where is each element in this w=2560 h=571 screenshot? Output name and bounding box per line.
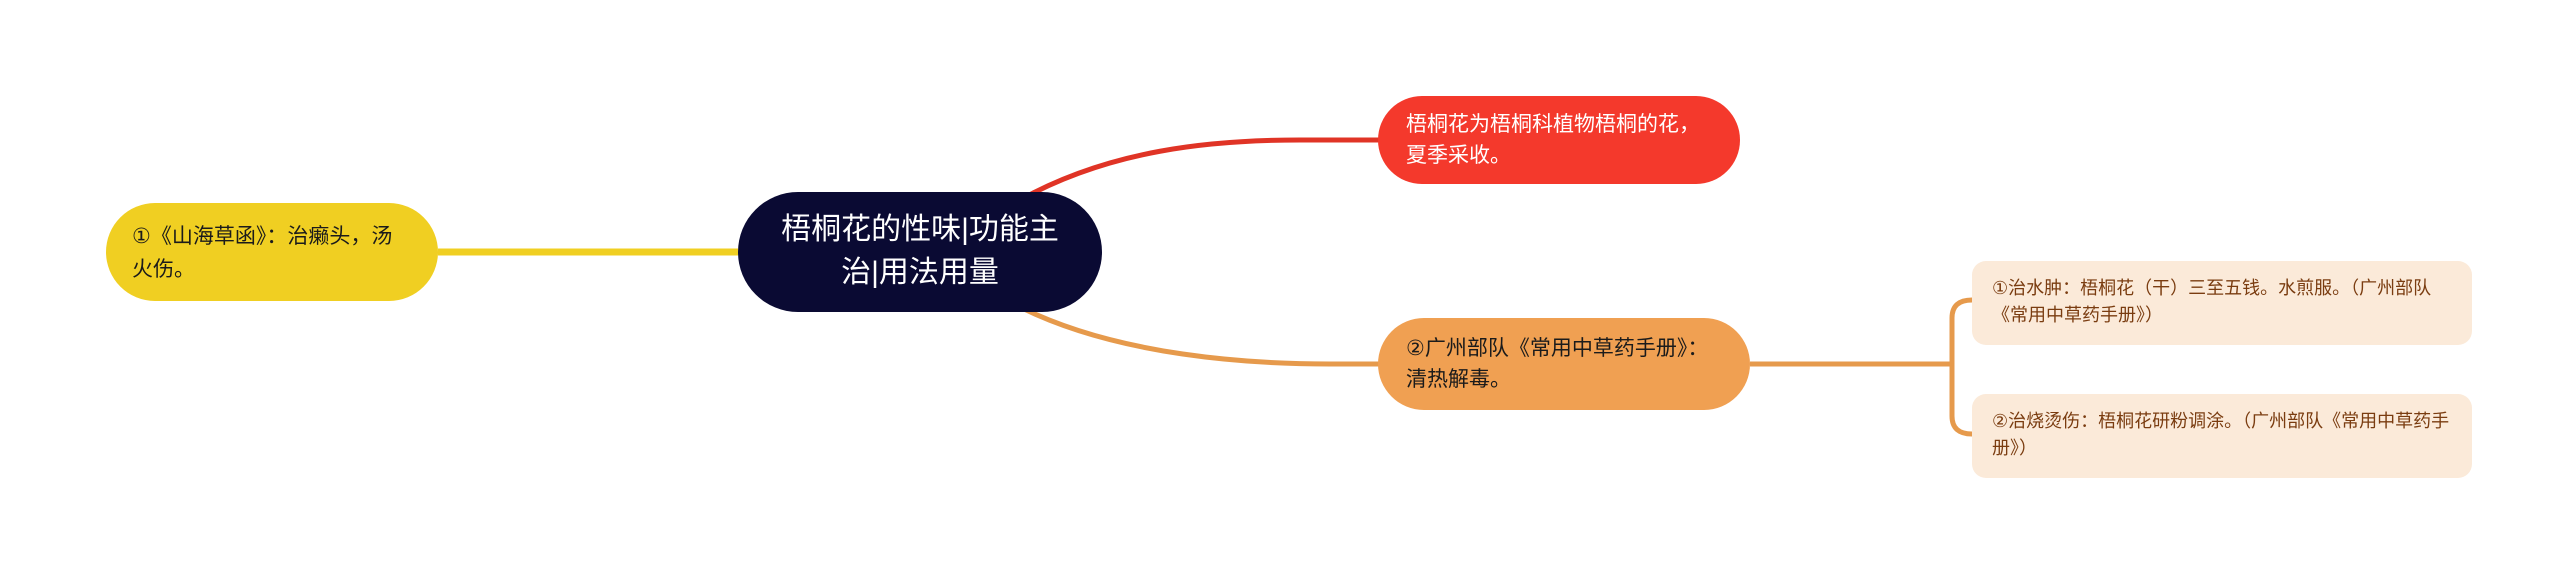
branch-node-orange-label: ②广州部队《常用中草药手册》：清热解毒。 [1406,333,1722,396]
branch-node-red[interactable]: 梧桐花为梧桐科植物梧桐的花，夏季采收。 [1378,96,1740,184]
branch-node-orange[interactable]: ②广州部队《常用中草药手册》：清热解毒。 [1378,318,1750,410]
root-node[interactable]: 梧桐花的性味|功能主治|用法用量 [738,192,1102,312]
branch-node-yellow-label: ①《山海草函》：治癞头，汤火伤。 [132,221,412,286]
connector-orange-to-leaf-2 [1952,364,1972,434]
branch-node-yellow[interactable]: ①《山海草函》：治癞头，汤火伤。 [106,203,438,301]
root-node-label: 梧桐花的性味|功能主治|用法用量 [768,209,1072,294]
leaf-node-1-label: ①治水肿：梧桐花（干）三至五钱。水煎服。（广州部队《常用中草药手册》） [1992,275,2452,330]
connector-root-to-red [1020,140,1378,200]
leaf-node-1[interactable]: ①治水肿：梧桐花（干）三至五钱。水煎服。（广州部队《常用中草药手册》） [1972,261,2472,345]
connector-orange-to-leaf-1 [1952,300,1972,364]
leaf-node-2[interactable]: ②治烧烫伤：梧桐花研粉调涂。（广州部队《常用中草药手册》） [1972,394,2472,478]
leaf-node-2-label: ②治烧烫伤：梧桐花研粉调涂。（广州部队《常用中草药手册》） [1992,408,2452,463]
mindmap-canvas: 梧桐花的性味|功能主治|用法用量 ①《山海草函》：治癞头，汤火伤。 梧桐花为梧桐… [0,0,2560,571]
branch-node-red-label: 梧桐花为梧桐科植物梧桐的花，夏季采收。 [1406,109,1712,172]
connector-root-to-orange [1022,308,1378,364]
